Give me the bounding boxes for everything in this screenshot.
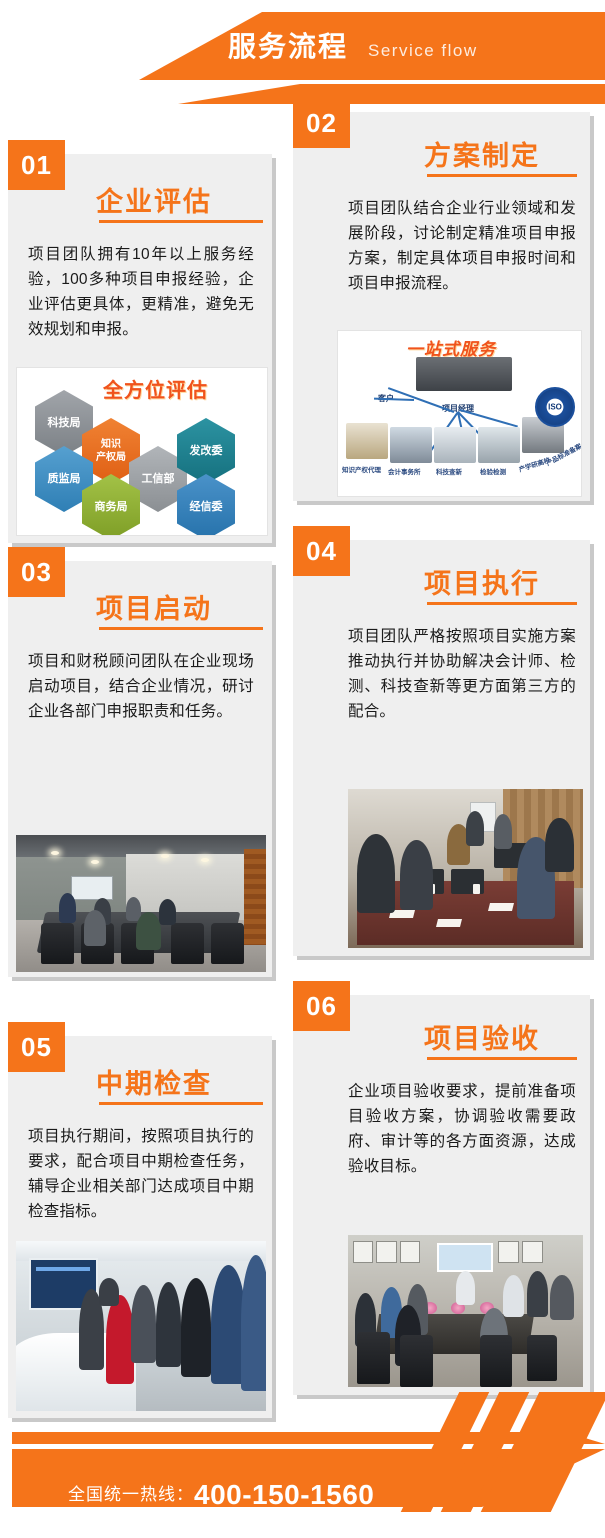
photo-card04-working-meeting xyxy=(348,789,583,948)
hex-label: 质监局 xyxy=(45,473,84,486)
hex-diagram-title: 全方位评估 xyxy=(103,374,208,403)
person xyxy=(156,1282,181,1367)
step-title: 项目启动 xyxy=(96,587,212,626)
person xyxy=(466,811,485,846)
step-number-badge: 01 xyxy=(8,140,65,190)
step-body-text: 项目执行期间，按照项目执行的要求，配合项目中期检查任务，辅导企业相关部门达成项目… xyxy=(28,1124,254,1224)
onestop-node-search xyxy=(434,427,476,463)
step-title: 项目执行 xyxy=(424,562,540,601)
person xyxy=(550,1275,574,1321)
onestop-seal-icon: ISO xyxy=(535,387,575,427)
person xyxy=(400,840,433,910)
title-underline xyxy=(99,627,263,630)
page-header: 服务流程 Service flow xyxy=(0,0,605,108)
page-title: 服务流程 xyxy=(228,22,348,72)
person xyxy=(456,1271,475,1304)
whiteboard xyxy=(71,876,113,900)
photo-scene xyxy=(348,789,583,948)
paper xyxy=(488,903,513,911)
step-body-text: 项目团队严格按照项目实施方案推动执行并协助解决会计师、检测、科技查新等更方面第三… xyxy=(348,624,576,724)
hex-label: 经信委 xyxy=(187,501,226,514)
projector-screen xyxy=(437,1243,493,1273)
person xyxy=(84,910,107,946)
footer-diagonal-stripes xyxy=(430,1392,605,1512)
title-underline xyxy=(427,602,577,605)
step-title: 项目验收 xyxy=(424,1017,540,1056)
one-stop-service-diagram: 一站式服务 客户 项目经理 ISO 知识产权代理 会计事务所 科技查新 检验检测… xyxy=(337,330,582,497)
step-body-text: 企业项目验收要求，提前准备项目验收方案，协调验收需要政府、审计等的各方面资源，达… xyxy=(348,1079,576,1179)
step-number-badge: 06 xyxy=(293,981,350,1031)
wood-panel xyxy=(244,849,267,945)
photo-scene xyxy=(348,1235,583,1387)
title-underline xyxy=(99,220,263,223)
wall-certificate xyxy=(522,1241,543,1263)
photo-scene xyxy=(16,1241,266,1411)
person xyxy=(99,1278,119,1305)
wall-certificate xyxy=(353,1241,374,1263)
hotline-number[interactable]: 400-150-1560 xyxy=(194,1473,374,1517)
hex-label: 商务局 xyxy=(92,501,131,514)
hex-label: 科技局 xyxy=(45,417,84,430)
step-number-badge: 05 xyxy=(8,1022,65,1072)
page-subtitle: Service flow xyxy=(368,34,478,68)
onestop-node-testing xyxy=(478,427,520,463)
chair xyxy=(211,923,244,964)
page-footer: 全国统一热线： 400-150-1560 xyxy=(0,1432,605,1538)
title-underline xyxy=(99,1102,263,1105)
person xyxy=(131,1285,156,1363)
photo-card05-site-inspection xyxy=(16,1241,266,1411)
person xyxy=(503,1275,524,1318)
onestop-node-accounting xyxy=(390,427,432,463)
step-body-text: 项目团队结合企业行业领域和发展阶段，讨论制定精准项目申报方案，制定具体项目申报时… xyxy=(348,196,576,296)
ceiling-light xyxy=(91,860,99,864)
wall-certificate xyxy=(400,1241,421,1263)
step-title: 企业评估 xyxy=(96,180,212,219)
paper xyxy=(436,919,461,927)
person xyxy=(181,1278,211,1377)
title-underline xyxy=(427,174,577,177)
person xyxy=(241,1255,266,1391)
chair xyxy=(527,1335,558,1381)
step-number-badge: 02 xyxy=(293,98,350,148)
wall-certificate xyxy=(376,1241,397,1263)
person xyxy=(159,899,177,925)
chair xyxy=(400,1335,433,1387)
wall-certificate xyxy=(498,1241,519,1263)
person xyxy=(136,912,161,950)
photo-card06-acceptance-meeting xyxy=(348,1235,583,1387)
chair xyxy=(41,923,74,964)
photo-card03-meeting-room xyxy=(16,835,266,972)
seal-text: ISO xyxy=(548,403,562,412)
onestop-node-label: 检验检测 xyxy=(480,466,506,476)
step-title: 方案制定 xyxy=(424,134,540,173)
step-title: 中期检查 xyxy=(96,1062,212,1101)
onestop-center-photo xyxy=(416,357,512,391)
hex-label: 知识 产权局 xyxy=(93,438,129,464)
onestop-node-ip xyxy=(346,423,388,459)
hex-label: 工信部 xyxy=(139,473,178,486)
person xyxy=(545,818,573,872)
person xyxy=(357,834,395,914)
monitor-row xyxy=(36,1267,91,1272)
person xyxy=(494,814,513,849)
step-body-text: 项目团队拥有10年以上服务经验，100多种项目申报经验，企业评估更具体，更精准，… xyxy=(28,242,254,342)
chair xyxy=(357,1332,390,1384)
onestop-node-label: 知识产权代理 xyxy=(342,464,381,474)
person xyxy=(527,1271,548,1317)
cup xyxy=(473,884,481,894)
person xyxy=(59,893,77,923)
hex-label: 发改委 xyxy=(187,445,226,458)
step-number-badge: 03 xyxy=(8,547,65,597)
hotline-label: 全国统一热线： xyxy=(68,1478,194,1512)
chair xyxy=(480,1335,513,1387)
step-body-text: 项目和财税顾问团队在企业现场启动项目，结合企业情况，研讨企业各部门申报职责和任务… xyxy=(28,649,254,724)
title-underline xyxy=(427,1057,577,1060)
photo-scene xyxy=(16,835,266,972)
person xyxy=(106,1295,134,1383)
chair xyxy=(171,923,204,964)
onestop-node-label: 科技查新 xyxy=(436,466,462,476)
onestop-node-label: 会计事务所 xyxy=(388,466,421,476)
all-round-evaluation-diagram: 全方位评估 科技局 知识 产权局 质监局 工信部 商务局 发改委 经信委 xyxy=(16,367,268,536)
service-flow-poster: 服务流程 Service flow 01 企业评估 项目团队拥有10年以上服务经… xyxy=(0,0,605,1538)
step-number-badge: 04 xyxy=(293,526,350,576)
